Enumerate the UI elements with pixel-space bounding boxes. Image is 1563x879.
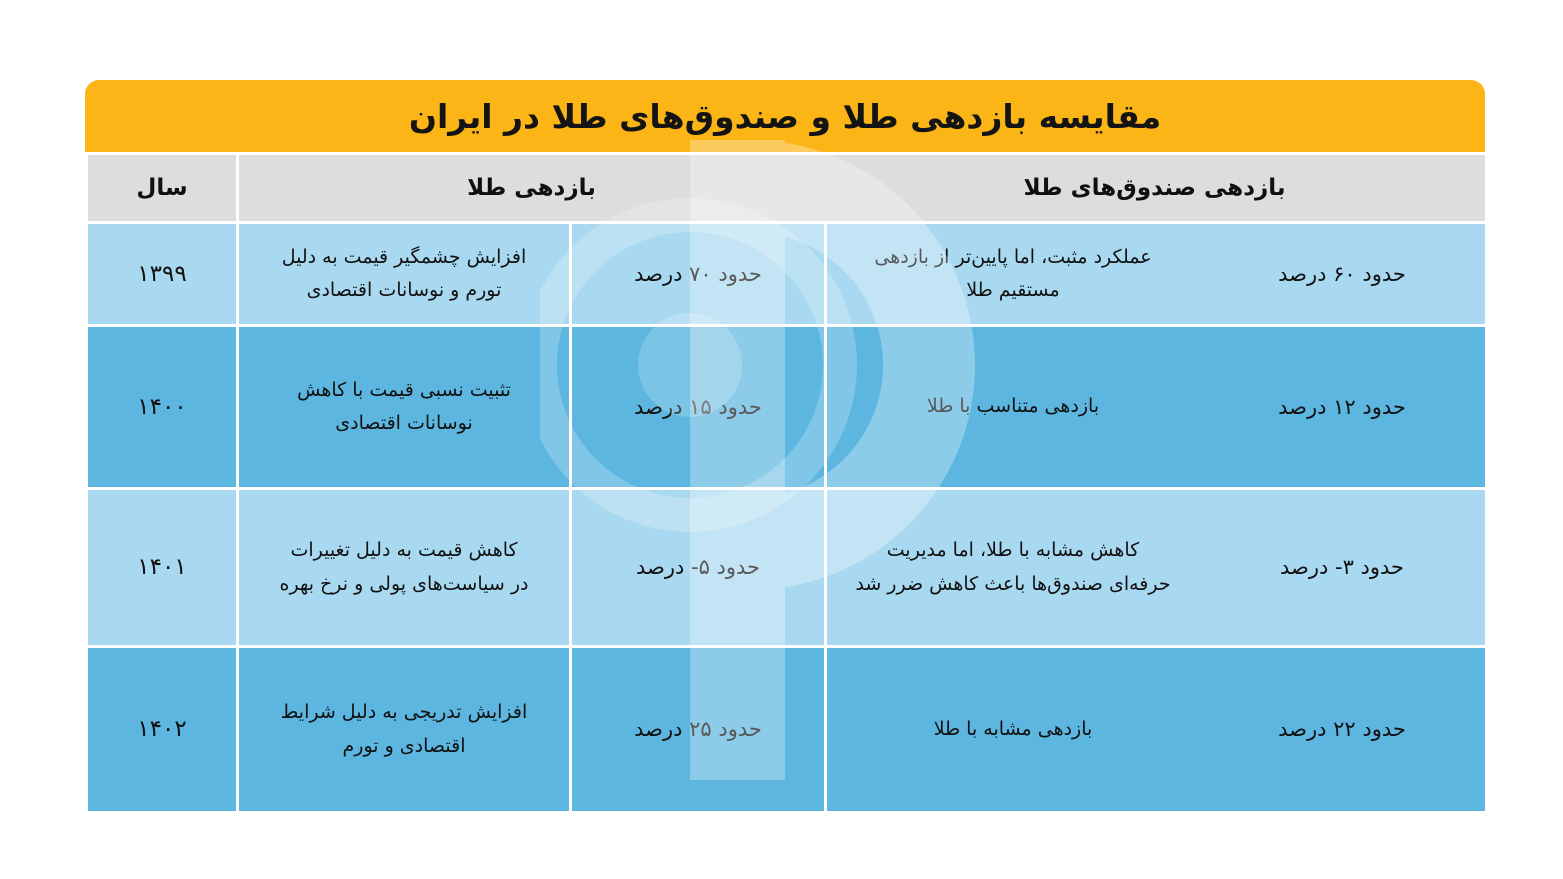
table-header-row: بازدهی صندوق‌های طلا بازدهی طلا سال [85, 155, 1485, 221]
cell-gold-return-percent: حدود ۱۵ درصد [572, 327, 824, 487]
page-background: مقایسه بازدهی طلا و صندوق‌های طلا در ایر… [0, 0, 1563, 879]
cell-fund-return-description: عملکرد مثبت، اما پایین‌تر از بازدهی مستق… [827, 224, 1199, 324]
table-body: حدود ۶۰ درصد عملکرد مثبت، اما پایین‌تر ا… [85, 224, 1485, 811]
cell-fund-return-description: بازدهی متناسب با طلا [827, 327, 1199, 487]
cell-gold-return-description: افزایش تدریجی به دلیل شرایط اقتصادی و تو… [239, 648, 569, 811]
cell-fund-return-percent: حدود ۲۲ درصد [1199, 648, 1485, 811]
cell-fund-return-description: کاهش مشابه با طلا، اما مدیریت حرفه‌ای صن… [827, 490, 1199, 645]
cell-gold-return-description: کاهش قیمت به دلیل تغییرات در سیاست‌های پ… [239, 490, 569, 645]
cell-fund-return-percent: حدود ۳- درصد [1199, 490, 1485, 645]
cell-year: ۱۴۰۰ [88, 327, 236, 487]
cell-fund-return-description: بازدهی مشابه با طلا [827, 648, 1199, 811]
cell-year: ۱۴۰۲ [88, 648, 236, 811]
table-row: حدود ۲۲ درصد بازدهی مشابه با طلا حدود ۲۵… [85, 648, 1485, 811]
cell-year: ۱۳۹۹ [88, 224, 236, 324]
cell-fund-return-percent: حدود ۱۲ درصد [1199, 327, 1485, 487]
table-row: حدود ۳- درصد کاهش مشابه با طلا، اما مدیر… [85, 490, 1485, 645]
cell-gold-return-description: تثبیت نسبی قیمت با کاهش نوسانات اقتصادی [239, 327, 569, 487]
cell-year: ۱۴۰۱ [88, 490, 236, 645]
cell-gold-return-description: افزایش چشمگیر قیمت به دلیل تورم و نوسانا… [239, 224, 569, 324]
table-title-bar: مقایسه بازدهی طلا و صندوق‌های طلا در ایر… [85, 80, 1485, 152]
cell-gold-return-percent: حدود ۵- درصد [572, 490, 824, 645]
cell-gold-return-percent: حدود ۲۵ درصد [572, 648, 824, 811]
comparison-table: مقایسه بازدهی طلا و صندوق‌های طلا در ایر… [85, 80, 1485, 810]
table-row: حدود ۶۰ درصد عملکرد مثبت، اما پایین‌تر ا… [85, 224, 1485, 324]
table-row: حدود ۱۲ درصد بازدهی متناسب با طلا حدود ۱… [85, 327, 1485, 487]
page-title: مقایسه بازدهی طلا و صندوق‌های طلا در ایر… [409, 97, 1161, 136]
column-header-fund-return: بازدهی صندوق‌های طلا [824, 155, 1485, 221]
column-header-year: سال [88, 155, 236, 221]
cell-gold-return-percent: حدود ۷۰ درصد [572, 224, 824, 324]
cell-fund-return-percent: حدود ۶۰ درصد [1199, 224, 1485, 324]
column-header-gold-return: بازدهی طلا [239, 155, 824, 221]
